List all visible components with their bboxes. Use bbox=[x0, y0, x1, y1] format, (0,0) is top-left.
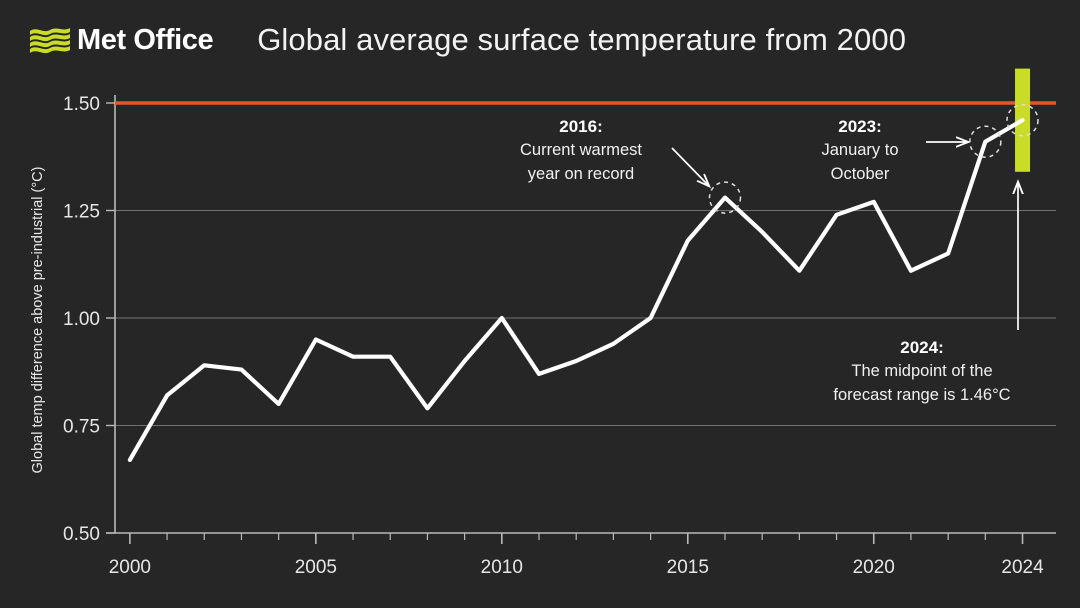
x-tick-label: 2020 bbox=[853, 557, 895, 578]
y-tick-label: 0.75 bbox=[63, 417, 100, 438]
x-minor-ticks bbox=[130, 533, 1023, 544]
annotation-2024-line1: The midpoint of the bbox=[818, 360, 1026, 383]
annotation-2023-line1: January to bbox=[790, 139, 930, 162]
annotation-2016-line2: year on record bbox=[486, 163, 676, 186]
annotation-2024-head: 2024: bbox=[818, 336, 1026, 360]
annotation-2016-head: 2016: bbox=[486, 115, 676, 139]
chart-container: Global temp difference above pre-industr… bbox=[0, 0, 1080, 608]
y-tick-label: 1.25 bbox=[63, 202, 100, 223]
annotation-2016: 2016: Current warmest year on record bbox=[486, 115, 676, 186]
x-tick-labels: 200020052010201520202024 bbox=[109, 557, 1044, 578]
y-tick-labels: 0.500.751.001.251.50 bbox=[63, 94, 100, 545]
annotation-2024: 2024: The midpoint of the forecast range… bbox=[818, 336, 1026, 407]
annotation-2024-line2: forecast range is 1.46°C bbox=[818, 384, 1026, 407]
y-tick-label: 1.00 bbox=[63, 309, 100, 330]
arrow-2016 bbox=[672, 148, 709, 186]
x-tick-label: 2000 bbox=[109, 557, 151, 578]
annotation-2023: 2023: January to October bbox=[790, 115, 930, 186]
annotation-2023-line2: October bbox=[790, 163, 930, 186]
x-tick-label: 2010 bbox=[481, 557, 523, 578]
x-tick-label: 2015 bbox=[667, 557, 709, 578]
y-tick-marks bbox=[106, 103, 115, 533]
annotation-2016-line1: Current warmest bbox=[486, 139, 676, 162]
y-tick-label: 0.50 bbox=[63, 524, 100, 545]
x-tick-label: 2024 bbox=[1001, 557, 1044, 578]
y-axis-title: Global temp difference above pre-industr… bbox=[30, 167, 46, 474]
annotation-2023-head: 2023: bbox=[790, 115, 930, 139]
x-tick-label: 2005 bbox=[295, 557, 337, 578]
chart-page: Met Office Global average surface temper… bbox=[0, 0, 1080, 608]
temperature-line-chart: Global temp difference above pre-industr… bbox=[0, 0, 1080, 608]
y-tick-label: 1.50 bbox=[63, 94, 100, 115]
